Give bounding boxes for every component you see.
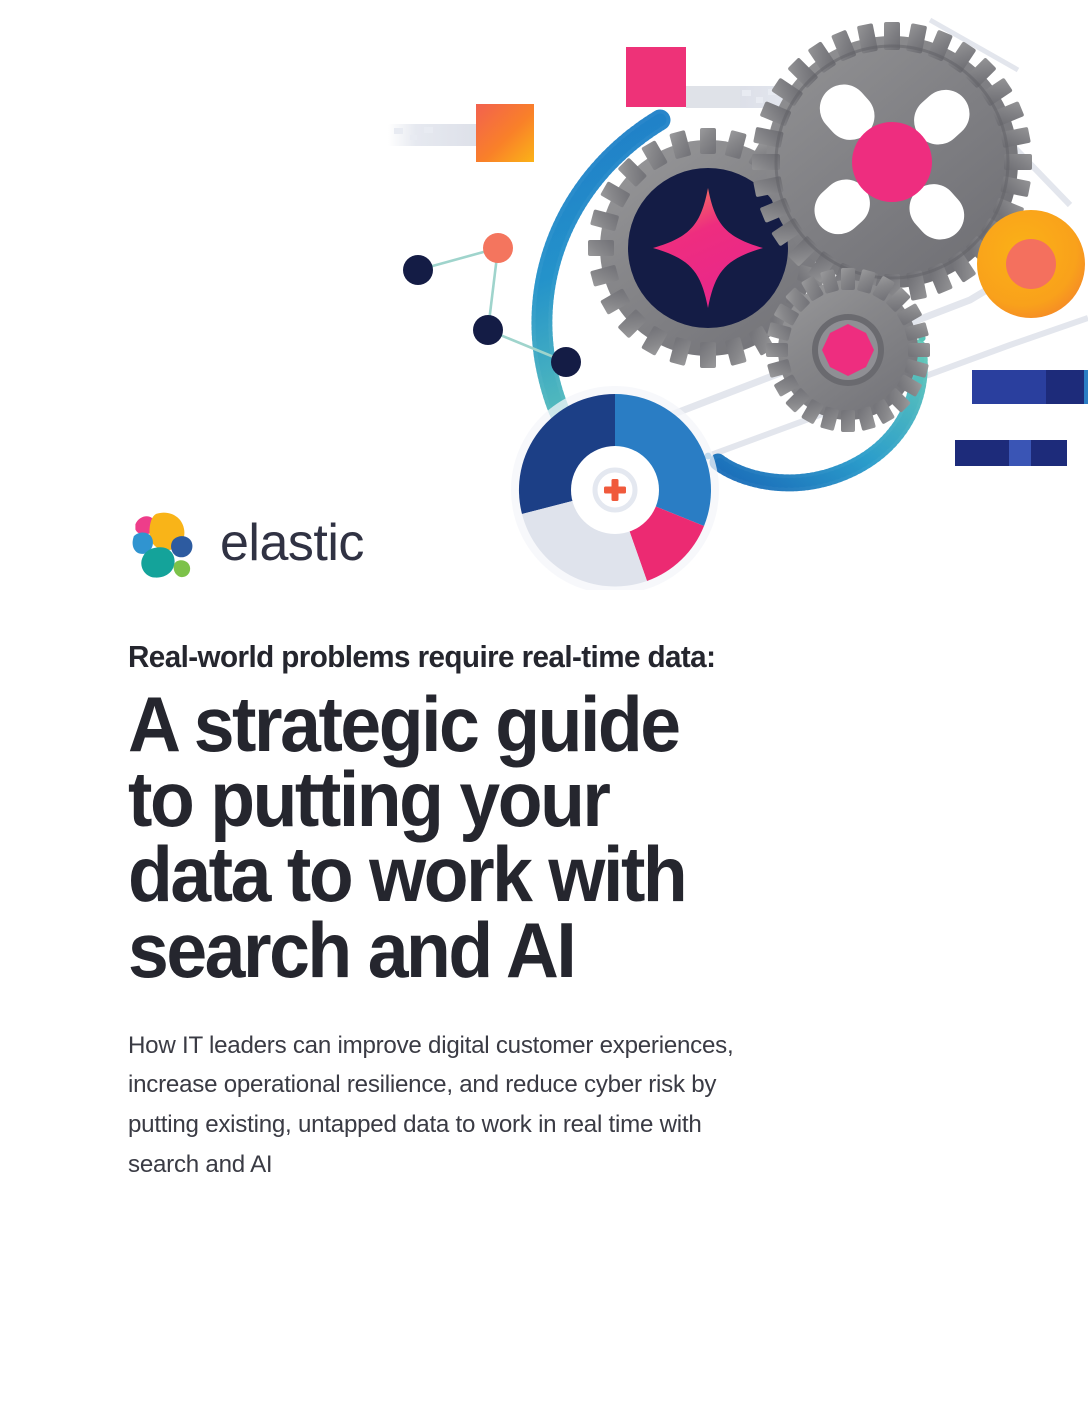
elastic-logo-mark <box>128 508 202 582</box>
subtitle-line-2: increase operational resilience, and red… <box>128 1065 837 1105</box>
inner-circle <box>1006 239 1056 289</box>
headline-line-1: A strategic guide <box>128 687 871 762</box>
orange-ring-circle <box>977 210 1085 318</box>
graph-node <box>473 315 503 345</box>
headline-line-3: data to work with <box>128 837 871 912</box>
orange-gradient-square <box>476 104 534 162</box>
headline-line-4: search and AI <box>128 913 871 988</box>
graph-node <box>551 347 581 377</box>
brand-logo[interactable]: elastic <box>128 508 364 582</box>
graph-node <box>403 255 433 285</box>
blue-bar-lower <box>955 440 1067 466</box>
eyebrow-text: Real-world problems require real-time da… <box>128 640 882 675</box>
graph-node-accent <box>483 233 513 263</box>
hero-illustration <box>370 0 1088 590</box>
subtitle-line-3: putting existing, untapped data to work … <box>128 1105 837 1145</box>
page-title: A strategic guide to putting your data t… <box>128 687 871 988</box>
orange-square-group <box>388 104 534 162</box>
cover-text-block: Real-world problems require real-time da… <box>128 640 918 1185</box>
small-gear-magenta-hub <box>766 268 930 432</box>
pink-square <box>626 47 686 107</box>
blue-bar-upper <box>972 370 1088 404</box>
page-subtitle: How IT leaders can improve digital custo… <box>128 1026 837 1185</box>
gear-hub <box>852 122 932 202</box>
subtitle-line-1: How IT leaders can improve digital custo… <box>128 1026 837 1066</box>
cover-page: elastic Real-world problems require real… <box>0 0 1088 1408</box>
brand-wordmark: elastic <box>220 517 364 573</box>
headline-line-2: to putting your <box>128 762 871 837</box>
subtitle-line-4: search and AI <box>128 1145 837 1185</box>
donut-chart <box>511 386 719 590</box>
